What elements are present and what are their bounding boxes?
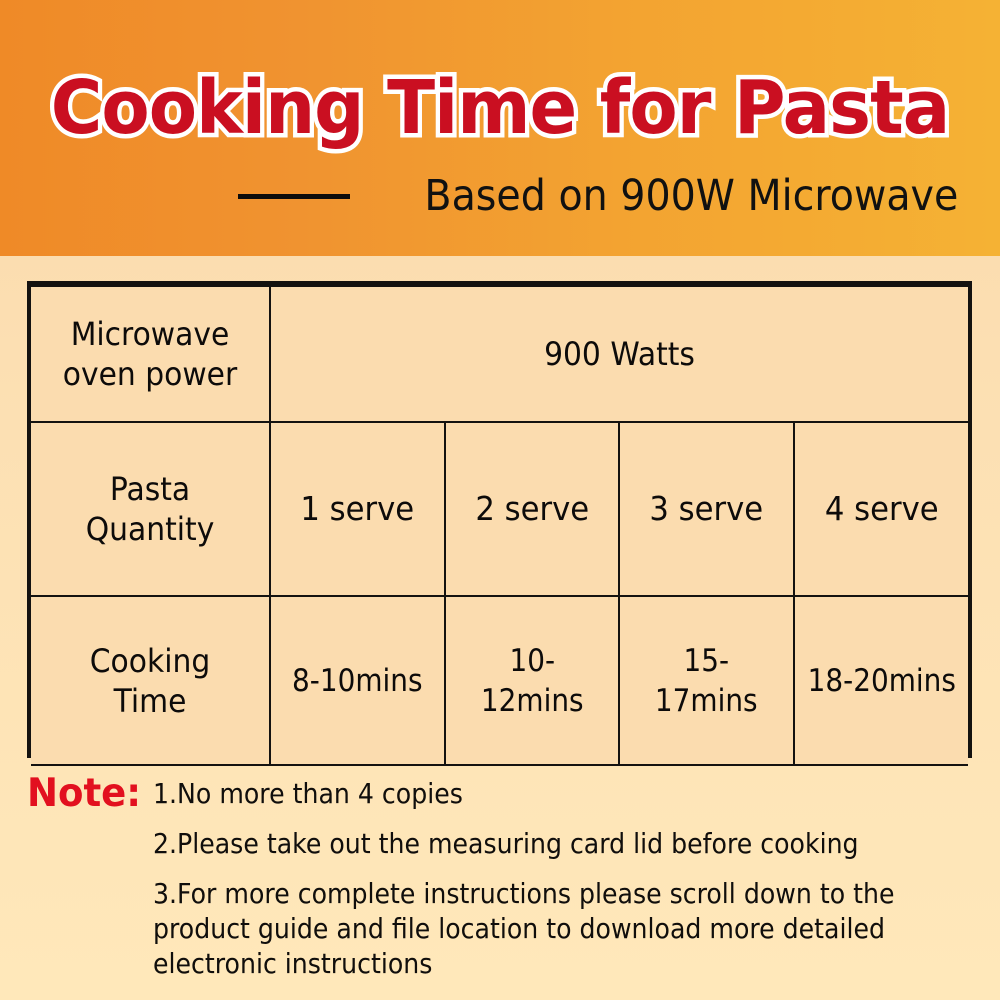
list-item: 2.Please take out the measuring card lid…	[153, 826, 895, 861]
table-grid: Microwave oven power 900 Watts Pasta Qua…	[31, 285, 968, 766]
table-row: Pasta Quantity 1 serve 2 serve 3 serve 4…	[31, 422, 968, 596]
cell-serve-1: 1 serve	[270, 422, 445, 596]
row-header-label: Pasta Quantity	[43, 469, 257, 549]
subtitle-row: Based on 900W Microwave	[0, 168, 1000, 224]
cell-time-3: 15-17mins	[619, 596, 794, 765]
row-header-microwave-power: Microwave oven power	[31, 286, 270, 422]
page-title: Cooking Time for Pasta	[25, 60, 975, 156]
list-item: 3.For more complete instructions please …	[153, 876, 895, 981]
header-banner: Cooking Time for Pasta Based on 900W Mic…	[0, 0, 1000, 256]
note-label: Note:	[27, 772, 147, 816]
cell-power-value: 900 Watts	[270, 286, 968, 422]
cell-time-1: 8-10mins	[270, 596, 445, 765]
row-header-pasta-quantity: Pasta Quantity	[31, 422, 270, 596]
cell-serve-4: 4 serve	[794, 422, 969, 596]
cell-serve-2: 2 serve	[445, 422, 620, 596]
time-label: 8-10mins	[283, 661, 431, 701]
serve-label: 3 serve	[630, 489, 783, 529]
page-subtitle: Based on 900W Microwave	[424, 171, 958, 221]
cell-time-2: 10-12mins	[445, 596, 620, 765]
row-header-label: Cooking Time	[43, 641, 257, 721]
list-item: 1.No more than 4 copies	[153, 776, 895, 811]
time-label: 10-12mins	[458, 641, 606, 721]
notes-row: Note: 1.No more than 4 copies 2.Please t…	[27, 772, 977, 981]
note-list: 1.No more than 4 copies 2.Please take ou…	[153, 772, 977, 981]
cell-time-4: 18-20mins	[794, 596, 969, 765]
time-label: 18-20mins	[807, 661, 956, 701]
table-row: Microwave oven power 900 Watts	[31, 286, 968, 422]
em-dash-icon	[238, 194, 350, 199]
table-row: Cooking Time 8-10mins 10-12mins 15-17min…	[31, 596, 968, 765]
serve-label: 2 serve	[455, 489, 608, 529]
serve-label: 1 serve	[281, 489, 434, 529]
serve-label: 4 serve	[804, 489, 958, 529]
power-value-label: 900 Watts	[299, 334, 940, 374]
row-header-cooking-time: Cooking Time	[31, 596, 270, 765]
notes-section: Note: 1.No more than 4 copies 2.Please t…	[27, 772, 977, 981]
time-label: 15-17mins	[632, 641, 780, 721]
cell-serve-3: 3 serve	[619, 422, 794, 596]
row-header-label: Microwave oven power	[43, 314, 257, 394]
cooking-time-table: Microwave oven power 900 Watts Pasta Qua…	[27, 281, 972, 758]
